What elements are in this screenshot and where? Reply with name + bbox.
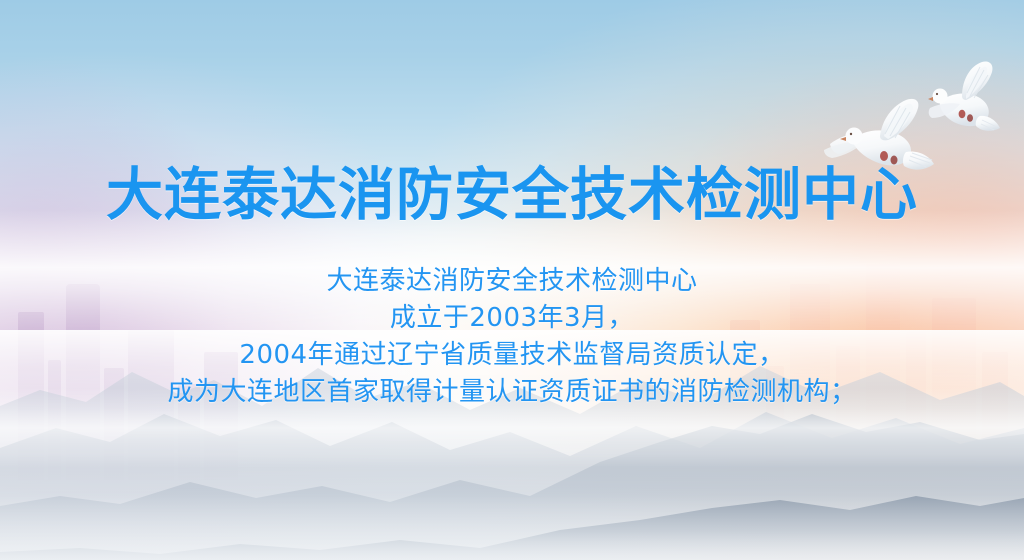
hero-banner: 大连泰达消防安全技术检测中心 大连泰达消防安全技术检测中心 成立于2003年3月…	[0, 0, 1024, 560]
intro-paragraph: 大连泰达消防安全技术检测中心 成立于2003年3月， 2004年通过辽宁省质量技…	[167, 263, 856, 411]
intro-line-1: 大连泰达消防安全技术检测中心	[167, 263, 856, 300]
page-title: 大连泰达消防安全技术检测中心	[106, 164, 918, 227]
intro-line-4: 成为大连地区首家取得计量认证资质证书的消防检测机构；	[167, 374, 856, 411]
intro-line-2: 成立于2003年3月，	[167, 300, 856, 337]
banner-content: 大连泰达消防安全技术检测中心 大连泰达消防安全技术检测中心 成立于2003年3月…	[0, 0, 1024, 560]
intro-line-3: 2004年通过辽宁省质量技术监督局资质认定，	[167, 337, 856, 374]
